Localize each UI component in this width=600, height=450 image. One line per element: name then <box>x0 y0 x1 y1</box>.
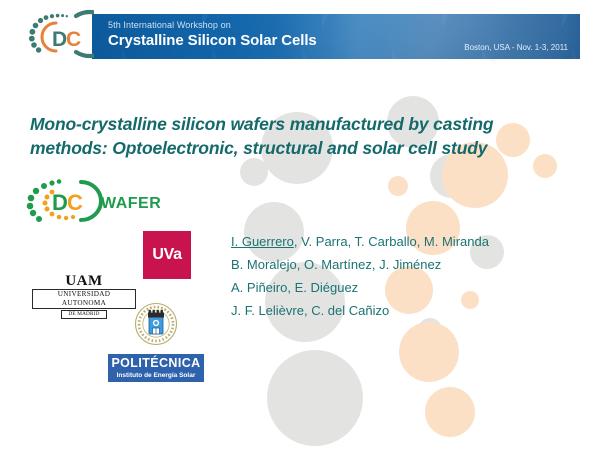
title-line-2: methods: Optoelectronic, structural and … <box>30 136 586 160</box>
uva-logo: UVa <box>143 231 191 279</box>
upm-crest-icon <box>134 302 178 346</box>
upm-logo: POLITÉCNICA Instituto de Energía Solar <box>108 302 204 382</box>
uva-logo-text: UVa <box>152 246 181 264</box>
conference-banner: 5th International Workshop on Crystallin… <box>92 14 580 59</box>
svg-text:WAFERS: WAFERS <box>101 195 160 212</box>
dc-logo-graphic: D C <box>16 6 94 62</box>
decorative-circle-peach <box>399 322 459 382</box>
author-line-1: I. Guerrero, V. Parra, T. Carballo, M. M… <box>231 230 489 253</box>
author-line-3: A. Piñeiro, E. Diéguez <box>231 276 489 299</box>
slide-canvas: 5th International Workshop on Crystallin… <box>0 0 600 450</box>
banner-background: 5th International Workshop on Crystallin… <box>92 14 580 59</box>
decorative-circle-peach <box>425 387 475 437</box>
banner-location-date: Boston, USA - Nov. 1-3, 2011 <box>464 43 568 52</box>
svg-text:D: D <box>52 190 68 215</box>
uam-logo-line-2: DE MADRID <box>61 310 107 319</box>
svg-text:C: C <box>66 28 81 51</box>
upm-logo-name: POLITÉCNICA <box>108 354 204 371</box>
page-title: Mono-crystalline silicon wafers manufact… <box>30 112 586 160</box>
banner-workshop-title: Crystalline Silicon Solar Cells <box>108 32 317 49</box>
dc-wafers-graphic: D C WAFERS <box>18 176 160 226</box>
decorative-circle-peach <box>388 176 408 196</box>
title-line-1: Mono-crystalline silicon wafers manufact… <box>30 112 586 136</box>
svg-text:D: D <box>52 28 67 51</box>
svg-text:C: C <box>67 190 83 215</box>
author-list: I. Guerrero, V. Parra, T. Carballo, M. M… <box>231 230 489 322</box>
dc-wafers-logo: D C WAFERS <box>18 176 160 226</box>
author-line-1-rest: , V. Parra, T. Carballo, M. Miranda <box>294 234 489 249</box>
conference-dc-logo: D C <box>16 6 94 62</box>
upm-logo-subtitle: Instituto de Energía Solar <box>108 371 204 382</box>
uam-logo-mark: UAM <box>32 274 136 288</box>
banner-workshop-label: 5th International Workshop on <box>108 20 231 30</box>
author-line-2: B. Moralejo, O. Martínez, J. Jiménez <box>231 253 489 276</box>
author-line-4: J. F. Lelièvre, C. del Cañizo <box>231 299 489 322</box>
presenting-author: I. Guerrero <box>231 234 294 249</box>
